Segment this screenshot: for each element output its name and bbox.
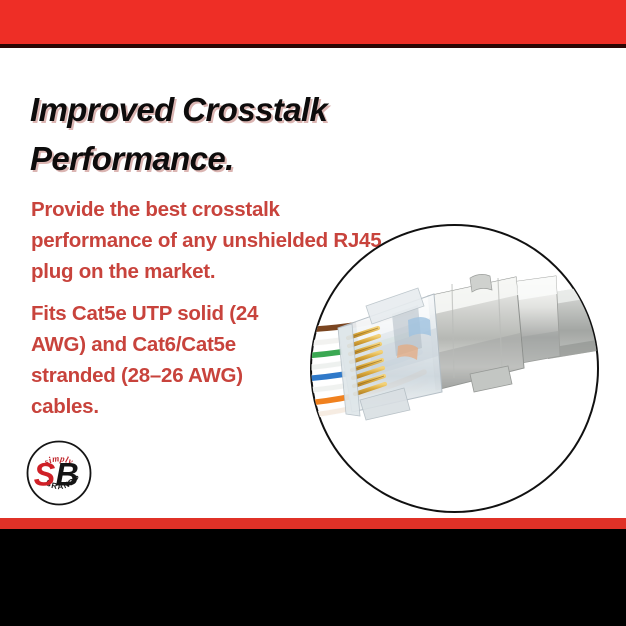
simply-brands-logo: simply BRANDS S B: [24, 438, 94, 508]
top-red-bar: [0, 0, 626, 44]
bottom-red-bar: [0, 518, 626, 529]
content-card: Improved Crosstalk Performance. Provide …: [0, 48, 626, 518]
logo-letter-s: S: [34, 457, 56, 493]
product-photo-circle: [310, 224, 599, 513]
slide-canvas: Improved Crosstalk Performance. Provide …: [0, 0, 626, 626]
logo-letter-b: B: [56, 457, 79, 493]
feature-paragraph-2: Fits Cat5e UTP solid (24 AWG) and Cat6/C…: [31, 298, 299, 423]
headline-line-2: Performance.: [30, 135, 430, 184]
feature-paragraph-1: Provide the best crosstalk performance o…: [31, 194, 396, 287]
headline-line-1: Improved Crosstalk: [30, 91, 327, 128]
page-title: Improved Crosstalk Performance.: [30, 86, 430, 184]
bottom-black-frame: [0, 529, 626, 626]
